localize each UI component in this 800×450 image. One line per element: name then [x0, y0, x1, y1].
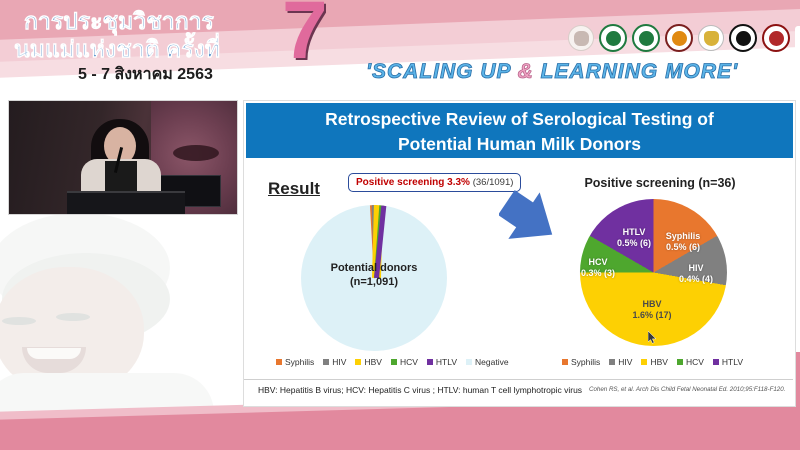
organization-logo-icon: [795, 26, 800, 50]
potential-donors-label: Potential donors (n=1,091): [301, 261, 447, 289]
legend-label: Syphilis: [571, 357, 600, 367]
legend-item-negative: Negative: [466, 357, 509, 367]
legend-item-hcv: HCV: [391, 357, 418, 367]
legend-label: HBV: [650, 357, 667, 367]
slice-value: 0.5% (6): [656, 242, 710, 253]
slide-title-line1: Retrospective Review of Serological Test…: [246, 107, 793, 132]
pie-slice-label-hbv: HBV 1.6% (17): [623, 299, 681, 321]
slice-name: HBV: [623, 299, 681, 310]
legend-label: HIV: [618, 357, 632, 367]
slice-value: 0.5% (6): [610, 238, 658, 249]
conference-slogan: 'SCALING UP & LEARNING MORE': [366, 60, 738, 84]
legend-label: HTLV: [722, 357, 743, 367]
slide-title-line2: Potential Human Milk Donors: [246, 132, 793, 157]
legend-item-syphilis: Syphilis: [562, 357, 600, 367]
legend-item-htlv: HTLV: [427, 357, 457, 367]
callout-fraction: (36/1091): [473, 177, 514, 188]
legend-label: HBV: [364, 357, 381, 367]
legend-item-hbv: HBV: [355, 357, 381, 367]
slide-title: Retrospective Review of Serological Test…: [246, 103, 793, 158]
organization-logo-icon: [568, 25, 594, 51]
potential-donors-count: (n=1,091): [301, 275, 447, 289]
mouse-cursor-icon: [648, 331, 657, 344]
pie-slice-label-htlv: HTLV 0.5% (6): [610, 227, 658, 249]
potential-donors-name: Potential donors: [301, 261, 447, 275]
legend-label: HCV: [686, 357, 704, 367]
legend-label: HIV: [332, 357, 346, 367]
slice-name: HIV: [674, 263, 718, 274]
legend-label: HTLV: [436, 357, 457, 367]
sponsor-logo-row: [568, 24, 800, 52]
legend-label: Syphilis: [285, 357, 314, 367]
conference-date: 5 - 7 สิงหาคม 2563: [78, 62, 213, 87]
slogan-text-part1: 'SCALING UP: [366, 60, 518, 83]
legend-potential-donors: Syphilis HIV HBV HCV HTLV Negative: [276, 357, 509, 367]
legend-item-htlv: HTLV: [713, 357, 743, 367]
slice-name: HTLV: [610, 227, 658, 238]
callout-percentage: Positive screening 3.3%: [356, 177, 470, 188]
pie-slice-label-hcv: HCV 0.3% (3): [577, 257, 619, 279]
blue-arrow-icon: [499, 189, 561, 249]
legend-item-hcv: HCV: [677, 357, 704, 367]
legend-positive-screening: Syphilis HIV HBV HCV HTLV: [562, 357, 743, 367]
slogan-text-part2: LEARNING MORE': [534, 60, 738, 83]
organization-logo-icon: [729, 24, 757, 52]
legend-item-syphilis: Syphilis: [276, 357, 314, 367]
legend-label: HCV: [400, 357, 418, 367]
conference-edition-number: 7: [282, 0, 328, 72]
organization-logo-icon: [599, 24, 627, 52]
legend-item-hiv: HIV: [323, 357, 346, 367]
slide-footer: HBV: Hepatitis B virus; HCV: Hepatitis C…: [244, 379, 793, 406]
slogan-ampersand: &: [518, 60, 534, 83]
legend-item-hiv: HIV: [609, 357, 632, 367]
organization-logo-icon: [632, 24, 660, 52]
pie-slice-label-syphilis: Syphilis 0.5% (6): [656, 231, 710, 253]
presentation-screen: การประชุมวิชาการ นมแม่แห่งชาติ ครั้งที่ …: [0, 0, 800, 450]
slice-name: Syphilis: [656, 231, 710, 242]
slice-value: 0.4% (4): [674, 274, 718, 285]
background-child-photo: [0, 205, 244, 420]
result-heading: Result: [268, 179, 320, 199]
positive-screening-pie-title: Positive screening (n=36): [570, 176, 750, 190]
legend-label: Negative: [475, 357, 509, 367]
organization-logo-icon: [762, 24, 790, 52]
slice-name: HCV: [577, 257, 619, 268]
conference-header-banner: การประชุมวิชาการ นมแม่แห่งชาติ ครั้งที่ …: [0, 0, 800, 97]
slice-value: 1.6% (17): [623, 310, 681, 321]
reference-citation: Cohen RS, et al. Arch Dis Child Fetal Ne…: [589, 386, 785, 393]
legend-item-hbv: HBV: [641, 357, 667, 367]
abbreviation-footnote: HBV: Hepatitis B virus; HCV: Hepatitis C…: [258, 385, 582, 395]
pie-slice-label-hiv: HIV 0.4% (4): [674, 263, 718, 285]
slice-value: 0.3% (3): [577, 268, 619, 279]
organization-logo-icon: [698, 25, 724, 51]
slide-panel: Retrospective Review of Serological Test…: [243, 100, 796, 407]
positive-screening-callout: Positive screening 3.3% (36/1091): [348, 173, 521, 192]
organization-logo-icon: [665, 24, 693, 52]
speaker-video-inset[interactable]: [8, 100, 238, 215]
